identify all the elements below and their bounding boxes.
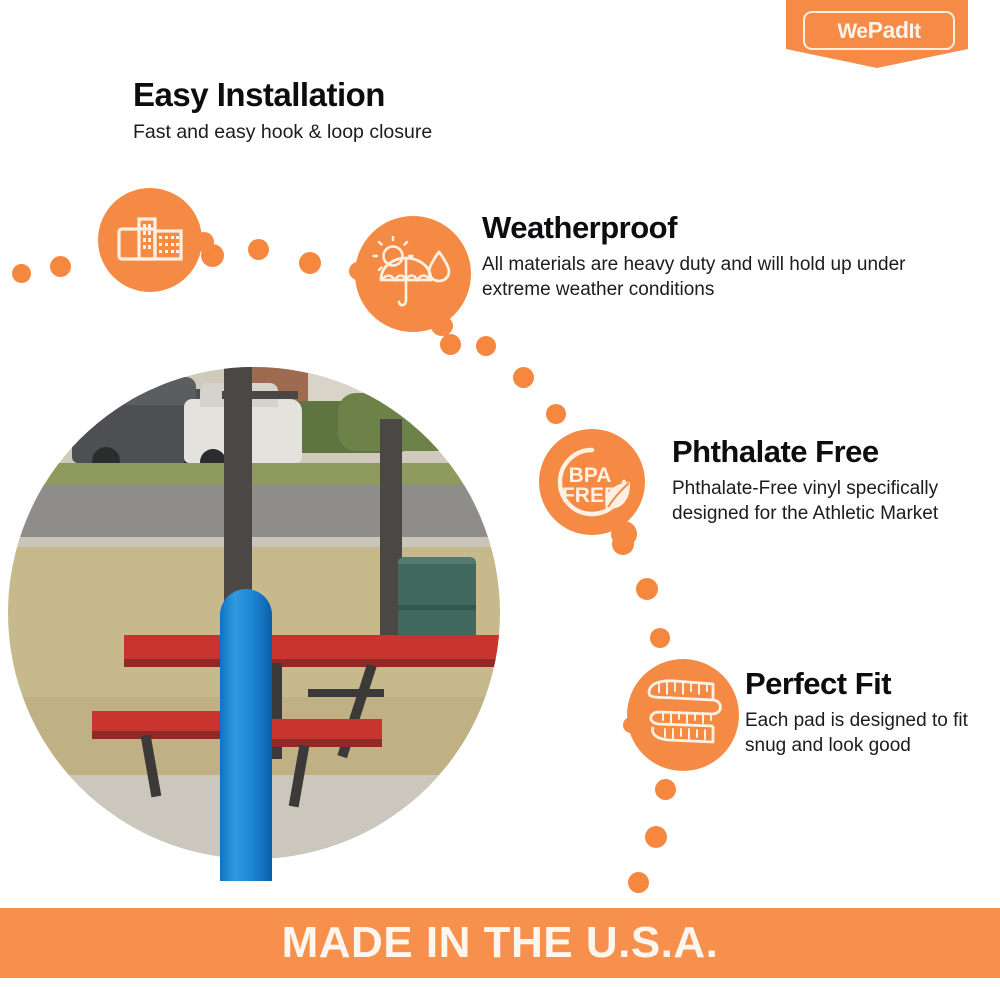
logo-text-it: It (909, 20, 921, 43)
photo-shade-post-left (224, 367, 252, 607)
blue-pole-pad-on-park-post-photo (8, 367, 500, 859)
trail-dot (645, 826, 667, 848)
building-installation-icon (98, 188, 202, 292)
trail-dot (50, 256, 71, 277)
brand-logo[interactable]: WePadIt (786, 0, 968, 68)
photo-barrel-ring (398, 605, 476, 610)
sun-umbrella-raindrop-icon (355, 216, 471, 332)
photo-dark-suv-roof (104, 377, 196, 405)
feature-title: Phthalate Free (672, 436, 962, 469)
trail-dot (248, 239, 269, 260)
trail-dot (546, 404, 566, 424)
logo-text-pad: Pad (868, 17, 909, 43)
feature-title: Weatherproof (482, 212, 912, 245)
icon-blob-lobe (194, 232, 214, 252)
feature-title: Perfect Fit (745, 668, 980, 701)
trail-dot (650, 628, 670, 648)
feature-description: Fast and easy hook & loop closure (133, 120, 563, 146)
trail-dot (299, 252, 321, 274)
icon-blob-lobe (611, 521, 637, 547)
feature-description: Phthalate-Free vinyl specifically design… (672, 476, 962, 527)
trail-dot (476, 336, 496, 356)
trail-dot (636, 578, 658, 600)
infographic-canvas: WePadIt Easy Installation Fast and easy … (0, 0, 1000, 987)
banner-text: MADE IN THE U.S.A. (282, 921, 719, 965)
feature-description: Each pad is designed to fit snug and loo… (745, 708, 980, 759)
trail-dot (513, 367, 534, 388)
photo-shade-arm (222, 391, 298, 399)
logo-text-we: We (837, 20, 867, 43)
photo-content (8, 367, 500, 859)
trail-dot (655, 779, 676, 800)
logo-outline-box: WePadIt (803, 11, 955, 50)
logo-text: WePadIt (837, 19, 920, 42)
feature-description: All materials are heavy duty and will ho… (482, 252, 912, 303)
blue-pole-pad-extension (220, 843, 272, 881)
bpa-free-leaf-icon: BPA FREE (539, 429, 645, 535)
feature-title: Easy Installation (133, 78, 563, 113)
photo-bench-edge-right (264, 739, 382, 747)
feature-phthalate-free: Phthalate Free Phthalate-Free vinyl spec… (672, 436, 962, 526)
measuring-tape-icon (627, 659, 739, 771)
icon-blob-lobe (623, 717, 639, 733)
photo-table-top (124, 635, 500, 661)
photo-road (8, 485, 500, 543)
photo-table-top-edge (124, 659, 500, 667)
photo-bench-seat-right (264, 719, 382, 741)
trail-dot (628, 872, 649, 893)
blue-pole-pad (220, 589, 272, 859)
trail-dot (12, 264, 31, 283)
icon-blob-lobe (431, 316, 453, 336)
trail-dot (440, 334, 461, 355)
photo-table-frame (308, 689, 384, 697)
feature-weatherproof: Weatherproof All materials are heavy dut… (482, 212, 912, 302)
feature-perfect-fit: Perfect Fit Each pad is designed to fit … (745, 668, 980, 758)
icon-blob-lobe (349, 262, 367, 280)
made-in-usa-banner: MADE IN THE U.S.A. (0, 908, 1000, 978)
feature-easy-installation: Easy Installation Fast and easy hook & l… (133, 78, 563, 146)
